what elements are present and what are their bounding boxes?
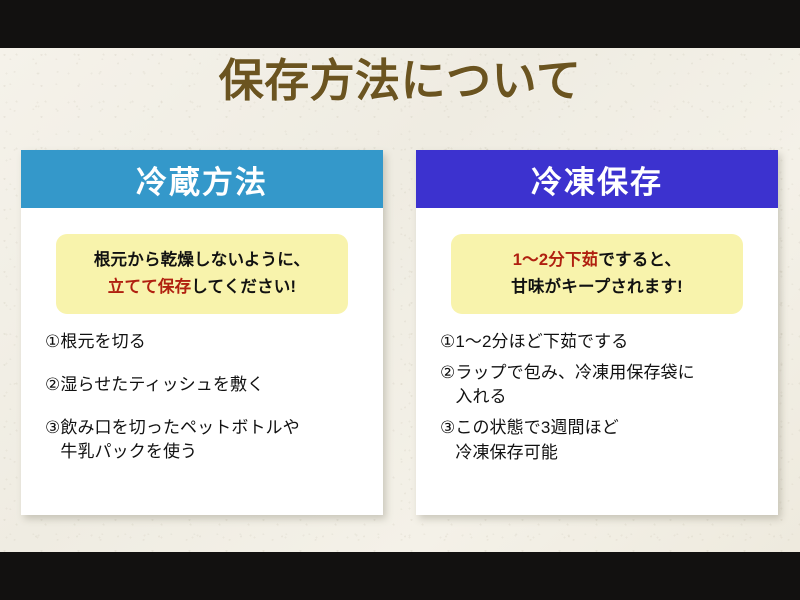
panel-header-freeze: 冷凍保存 bbox=[416, 150, 778, 208]
step-text: 1〜2分ほど下茹でする bbox=[455, 330, 628, 354]
step-line: 牛乳パックを使う bbox=[60, 440, 299, 464]
step-line: 湿らせたティッシュを敷く bbox=[60, 373, 264, 397]
panel-header-refrigerate: 冷蔵方法 bbox=[21, 150, 383, 208]
letterbox-bottom bbox=[0, 552, 800, 600]
step-text: 飲み口を切ったペットボトルや 牛乳パックを使う bbox=[60, 416, 299, 464]
step-text: 根元を切る bbox=[60, 330, 146, 354]
slide-root: 保存方法について 冷蔵方法 根元から乾燥しないように、 立てて保存してください!… bbox=[0, 0, 800, 600]
step-line: 1〜2分ほど下茹でする bbox=[455, 330, 628, 354]
step-line: 入れる bbox=[455, 385, 694, 409]
callout-highlight: 1〜2分下茹 bbox=[513, 251, 599, 269]
list-item: ② ラップで包み、冷凍用保存袋に 入れる bbox=[440, 361, 766, 409]
list-item: ③ この状態で3週間ほど 冷凍保存可能 bbox=[440, 416, 766, 464]
step-line: 冷凍保存可能 bbox=[455, 441, 618, 465]
page-title: 保存方法について bbox=[0, 57, 800, 106]
panel-body-refrigerate: 根元から乾燥しないように、 立てて保存してください! ① 根元を切る ② 湿らせ… bbox=[21, 208, 383, 515]
panel-refrigerate: 冷蔵方法 根元から乾燥しないように、 立てて保存してください! ① 根元を切る bbox=[21, 150, 383, 515]
step-number: ② bbox=[440, 361, 455, 385]
step-number: ③ bbox=[440, 416, 455, 440]
step-number: ① bbox=[45, 330, 60, 354]
callout-text: してください! bbox=[191, 278, 296, 296]
letterbox-top bbox=[0, 0, 800, 48]
step-number: ③ bbox=[45, 416, 60, 440]
step-line: ラップで包み、冷凍用保存袋に bbox=[455, 361, 694, 385]
callout-freeze: 1〜2分下茹ですると、 甘味がキープされます! bbox=[451, 234, 743, 314]
list-item: ① 1〜2分ほど下茹でする bbox=[440, 330, 766, 354]
step-line: 飲み口を切ったペットボトルや bbox=[60, 416, 299, 440]
step-line: この状態で3週間ほど bbox=[455, 416, 618, 440]
step-text: ラップで包み、冷凍用保存袋に 入れる bbox=[455, 361, 694, 409]
list-item: ③ 飲み口を切ったペットボトルや 牛乳パックを使う bbox=[45, 416, 371, 464]
callout-line: 根元から乾燥しないように、 bbox=[64, 247, 340, 274]
list-item: ② 湿らせたティッシュを敷く bbox=[45, 373, 371, 397]
step-line: 根元を切る bbox=[60, 330, 146, 354]
panel-body-freeze: 1〜2分下茹ですると、 甘味がキープされます! ① 1〜2分ほど下茹でする ② … bbox=[416, 208, 778, 515]
steps-freeze: ① 1〜2分ほど下茹でする ② ラップで包み、冷凍用保存袋に 入れる ③ この状… bbox=[440, 330, 766, 472]
step-number: ② bbox=[45, 373, 60, 397]
callout-text: ですると、 bbox=[598, 251, 681, 269]
panel-freeze: 冷凍保存 1〜2分下茹ですると、 甘味がキープされます! ① 1〜2分ほど下茹で… bbox=[416, 150, 778, 515]
callout-text: 甘味がキープされます! bbox=[511, 278, 683, 296]
callout-highlight: 立てて保存 bbox=[108, 278, 192, 296]
callout-text: 根元から乾燥しないように、 bbox=[94, 251, 310, 269]
step-number: ① bbox=[440, 330, 455, 354]
steps-refrigerate: ① 根元を切る ② 湿らせたティッシュを敷く ③ 飲み口を切ったペットボトルや … bbox=[45, 330, 371, 484]
step-text: 湿らせたティッシュを敷く bbox=[60, 373, 264, 397]
callout-line: 1〜2分下茹ですると、 bbox=[459, 247, 735, 274]
list-item: ① 根元を切る bbox=[45, 330, 371, 354]
callout-line: 立てて保存してください! bbox=[64, 274, 340, 301]
callout-line: 甘味がキープされます! bbox=[459, 274, 735, 301]
callout-refrigerate: 根元から乾燥しないように、 立てて保存してください! bbox=[56, 234, 348, 314]
step-text: この状態で3週間ほど 冷凍保存可能 bbox=[455, 416, 618, 464]
